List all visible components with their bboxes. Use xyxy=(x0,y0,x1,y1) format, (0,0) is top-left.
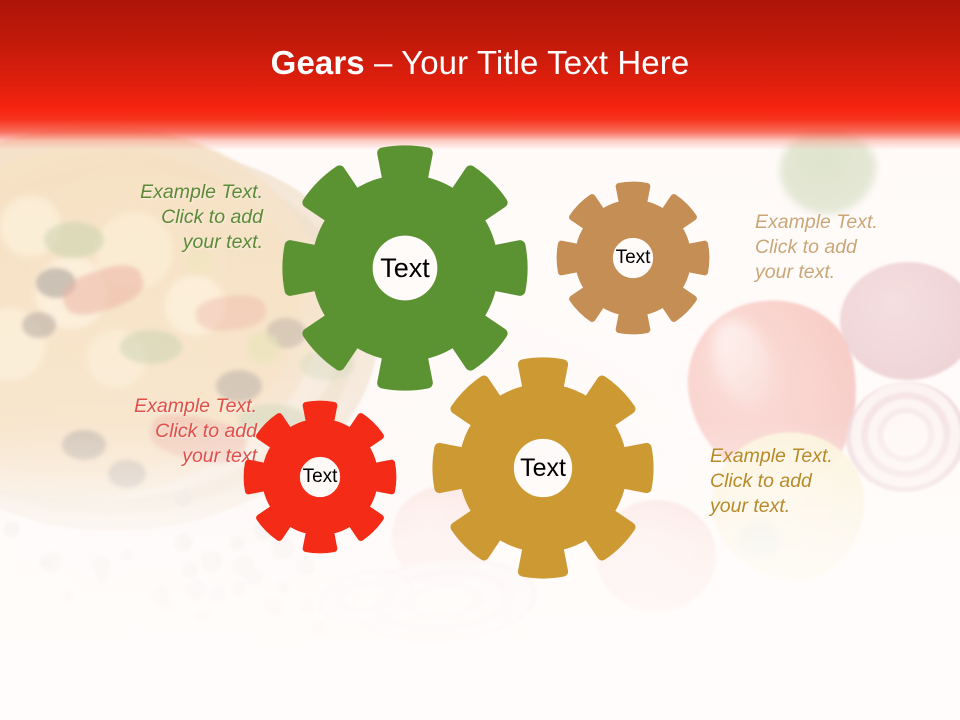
gear-tan[interactable]: Text xyxy=(557,182,709,334)
caption-bottom-right[interactable]: Example Text. Click to add your text. xyxy=(710,444,910,519)
gear-red[interactable]: Text xyxy=(244,401,396,553)
page-title-bold: Gears xyxy=(271,44,365,81)
caption-top-left[interactable]: Example Text. Click to add your text. xyxy=(78,180,263,255)
slide: Gears – Your Title Text Here Example Tex… xyxy=(0,0,960,720)
gear-tan-icon xyxy=(557,182,709,334)
page-title-rest: – Your Title Text Here xyxy=(365,44,690,81)
page-title: Gears – Your Title Text Here xyxy=(0,44,960,82)
gear-green[interactable]: Text xyxy=(283,146,527,390)
gear-green-icon xyxy=(283,146,527,390)
caption-top-right[interactable]: Example Text. Click to add your text. xyxy=(755,210,945,285)
gear-gold[interactable]: Text xyxy=(433,358,653,578)
gear-gold-icon xyxy=(433,358,653,578)
caption-bottom-left[interactable]: Example Text. Click to add your text xyxy=(62,394,257,469)
gear-red-icon xyxy=(244,401,396,553)
